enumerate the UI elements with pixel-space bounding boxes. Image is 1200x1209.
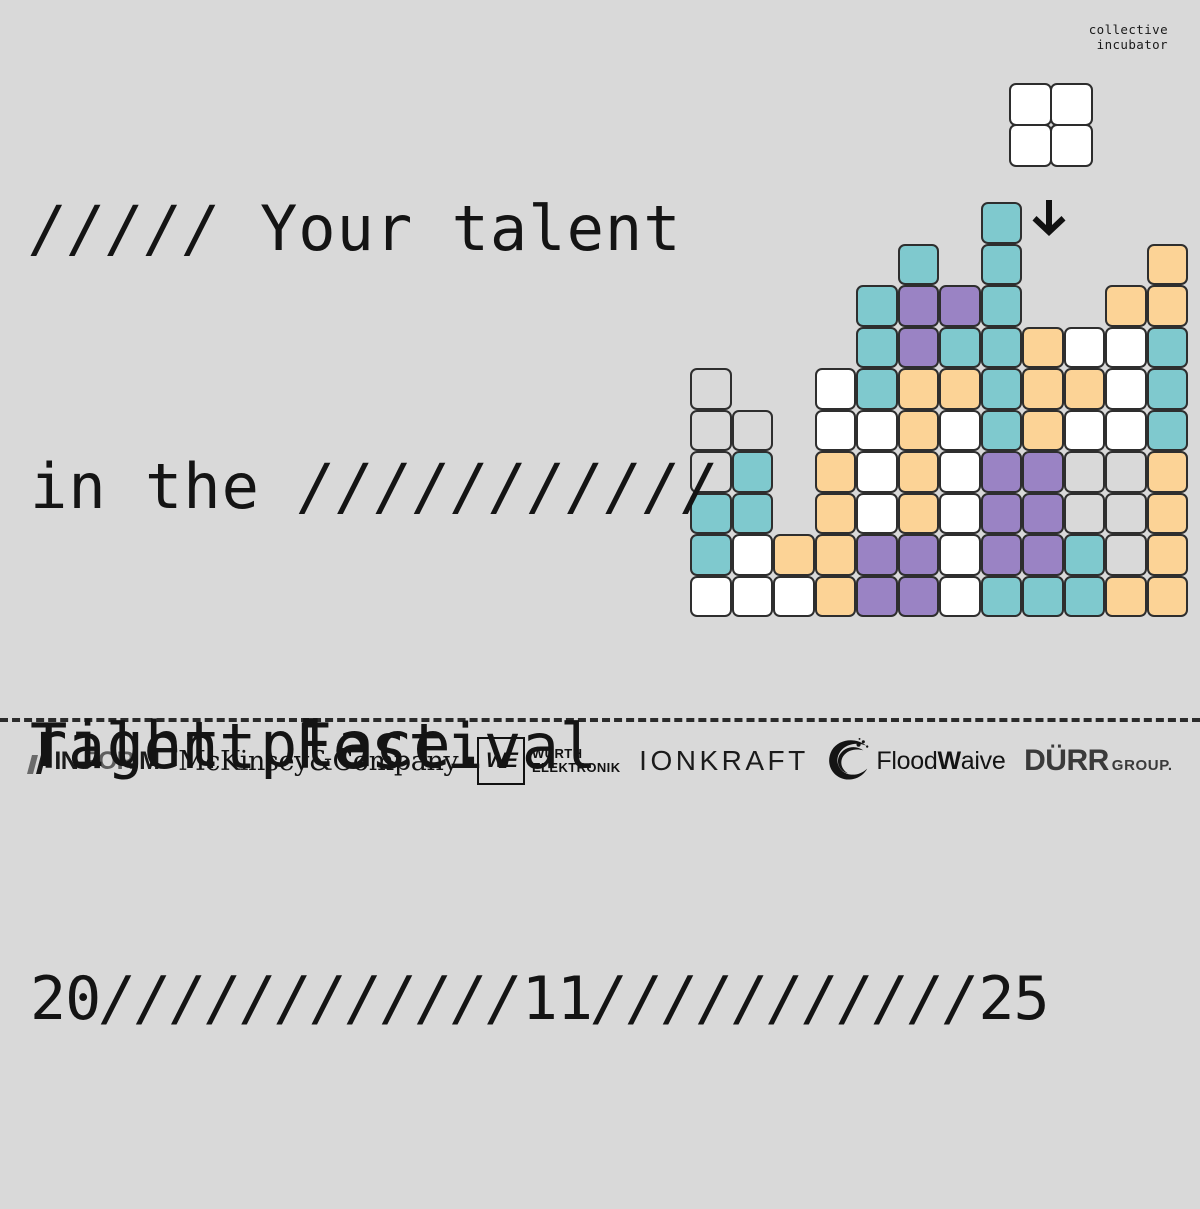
tile-orange-r6-c5	[898, 451, 940, 493]
brand-wordmark: collective incubator	[1089, 22, 1168, 52]
tile-orange-r1-c11	[1147, 244, 1189, 286]
tile-orange-r5-c8	[1022, 410, 1064, 452]
tile-empty-r5-c1	[732, 410, 774, 452]
tile-teal-r5-c7	[981, 410, 1023, 452]
headline-line-2: in the ///////////	[30, 444, 720, 530]
logo-square-bottom-right	[1050, 124, 1093, 167]
headline-text-1: Your talent	[222, 192, 682, 265]
tile-teal-r2-c4	[856, 285, 898, 327]
event-title-block: Talent Festival 20////////////11////////…	[30, 537, 1049, 1209]
tile-teal-r3-c11	[1147, 327, 1189, 369]
durr-label-sub: GROUP.	[1112, 757, 1173, 774]
tile-white-r4-c3	[815, 368, 857, 410]
tile-white-r4-c10	[1105, 368, 1147, 410]
tile-white-r6-c6	[939, 451, 981, 493]
arrow-down-icon	[1032, 200, 1066, 240]
brand-line-2: incubator	[1089, 37, 1168, 52]
tile-teal-r3-c4	[856, 327, 898, 369]
headline-slashes-1: /////	[30, 192, 222, 265]
tile-teal-r2-c7	[981, 285, 1023, 327]
tile-orange-r9-c10	[1105, 576, 1147, 618]
tile-white-r5-c4	[856, 410, 898, 452]
tile-orange-r2-c11	[1147, 285, 1189, 327]
tile-orange-r4-c6	[939, 368, 981, 410]
event-date-day: 20	[30, 964, 100, 1034]
tile-orange-r2-c10	[1105, 285, 1147, 327]
tile-white-r3-c9	[1064, 327, 1106, 369]
event-date-month: 11	[522, 964, 592, 1034]
tile-purple-r3-c5	[898, 327, 940, 369]
tile-purple-r7-c7	[981, 493, 1023, 535]
event-name: Talent Festival	[30, 705, 1049, 789]
tile-orange-r6-c11	[1147, 451, 1189, 493]
tile-teal-r4-c11	[1147, 368, 1189, 410]
logo-square-top-right	[1050, 83, 1093, 126]
tile-teal-r6-c1	[732, 451, 774, 493]
tile-purple-r2-c5	[898, 285, 940, 327]
tile-teal-r4-c7	[981, 368, 1023, 410]
tile-purple-r2-c6	[939, 285, 981, 327]
logo-square-bottom-left	[1009, 124, 1052, 167]
brand-line-1: collective	[1089, 22, 1168, 37]
tile-white-r7-c6	[939, 493, 981, 535]
tile-orange-r9-c11	[1147, 576, 1189, 618]
tile-teal-r3-c7	[981, 327, 1023, 369]
tile-teal-r8-c9	[1064, 534, 1106, 576]
tile-white-r6-c4	[856, 451, 898, 493]
tile-orange-r8-c11	[1147, 534, 1189, 576]
tile-white-r7-c4	[856, 493, 898, 535]
tile-teal-r1-c5	[898, 244, 940, 286]
tile-purple-r6-c8	[1022, 451, 1064, 493]
tile-empty-r7-c9	[1064, 493, 1106, 535]
poster-canvas: collective incubator ///// Your talent i…	[0, 0, 1200, 800]
tile-white-r5-c9	[1064, 410, 1106, 452]
tile-orange-r6-c3	[815, 451, 857, 493]
event-date-year: 25	[978, 964, 1048, 1034]
tile-teal-r4-c4	[856, 368, 898, 410]
tile-orange-r7-c5	[898, 493, 940, 535]
headline-text-2: in the	[30, 450, 298, 523]
tile-empty-r6-c9	[1064, 451, 1106, 493]
tile-teal-r7-c1	[732, 493, 774, 535]
tile-orange-r7-c11	[1147, 493, 1189, 535]
tile-orange-r7-c3	[815, 493, 857, 535]
headline-slashes-2: ///////////	[298, 450, 720, 523]
tile-purple-r6-c7	[981, 451, 1023, 493]
four-square-logo-icon	[1010, 84, 1092, 166]
tile-orange-r4-c5	[898, 368, 940, 410]
tile-empty-r8-c10	[1105, 534, 1147, 576]
tile-teal-r1-c7	[981, 244, 1023, 286]
tile-orange-r3-c8	[1022, 327, 1064, 369]
event-date: 20////////////11///////////25	[30, 957, 1049, 1041]
tile-teal-r0-c7	[981, 202, 1023, 244]
tile-empty-r6-c10	[1105, 451, 1147, 493]
tile-white-r3-c10	[1105, 327, 1147, 369]
tile-white-r5-c6	[939, 410, 981, 452]
tile-teal-r5-c11	[1147, 410, 1189, 452]
tile-orange-r4-c9	[1064, 368, 1106, 410]
tile-white-r5-c10	[1105, 410, 1147, 452]
tile-purple-r7-c8	[1022, 493, 1064, 535]
event-date-sep-2: ///////////	[592, 964, 978, 1034]
headline-line-1: ///// Your talent	[30, 186, 720, 272]
tile-orange-r5-c5	[898, 410, 940, 452]
tile-teal-r3-c6	[939, 327, 981, 369]
tile-empty-r7-c10	[1105, 493, 1147, 535]
logo-square-top-left	[1009, 83, 1052, 126]
event-date-sep-1: ////////////	[100, 964, 521, 1034]
tile-teal-r9-c9	[1064, 576, 1106, 618]
tile-white-r5-c3	[815, 410, 857, 452]
tile-orange-r4-c8	[1022, 368, 1064, 410]
